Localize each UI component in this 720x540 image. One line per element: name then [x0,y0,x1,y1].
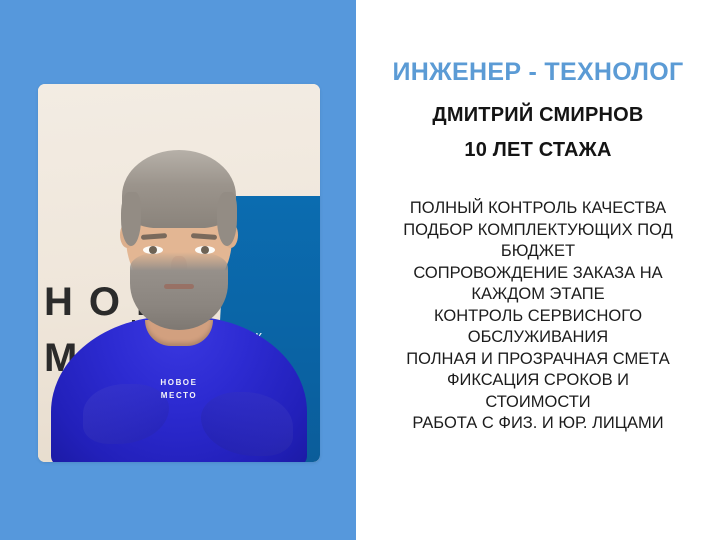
service-line: СОПРОВОЖДЕНИЕ ЗАКАЗА НА [364,263,712,285]
mouth [164,284,194,289]
promo-card: НОВ М Инж [0,0,720,540]
info-panel: ИНЖЕНЕР - ТЕХНОЛОГ ДМИТРИЙ СМИРНОВ 10 ЛЕ… [356,0,720,540]
job-title-heading: ИНЖЕНЕР - ТЕХНОЛОГ [356,58,720,87]
experience-years: 10 ЛЕТ СТАЖА [356,139,720,162]
service-line: РАБОТА С ФИЗ. И ЮР. ЛИЦАМИ [364,413,712,435]
service-line: БЮДЖЕТ [364,241,712,263]
hair-side-right [217,192,237,246]
shirt-print-line2: МЕСТО [161,391,198,400]
service-line: СТОИМОСТИ [364,392,712,414]
service-line: ОБСЛУЖИВАНИЯ [364,327,712,349]
employee-name: ДМИТРИЙ СМИРНОВ [356,104,720,127]
service-line: ПОДБОР КОМПЛЕКТУЮЩИХ ПОД [364,220,712,242]
shirt-print: НОВОЕ МЕСТО [145,376,213,402]
service-line: КАЖДОМ ЭТАПЕ [364,284,712,306]
service-line: КОНТРОЛЬ СЕРВИСНОГО [364,306,712,328]
person-figure: НОВОЕ МЕСТО [38,84,320,462]
service-line: ФИКСАЦИЯ СРОКОВ И [364,370,712,392]
service-line: ПОЛНЫЙ КОНТРОЛЬ КАЧЕСТВА [364,198,712,220]
employee-photo: НОВ М Инж [38,84,320,462]
hair-side-left [121,192,141,246]
service-line: ПОЛНАЯ И ПРОЗРАЧНАЯ СМЕТА [364,349,712,371]
shirt-print-line1: НОВОЕ [160,378,197,387]
services-list: ПОЛНЫЙ КОНТРОЛЬ КАЧЕСТВА ПОДБОР КОМПЛЕКТ… [364,198,712,435]
photo-panel: НОВ М Инж [0,0,356,540]
